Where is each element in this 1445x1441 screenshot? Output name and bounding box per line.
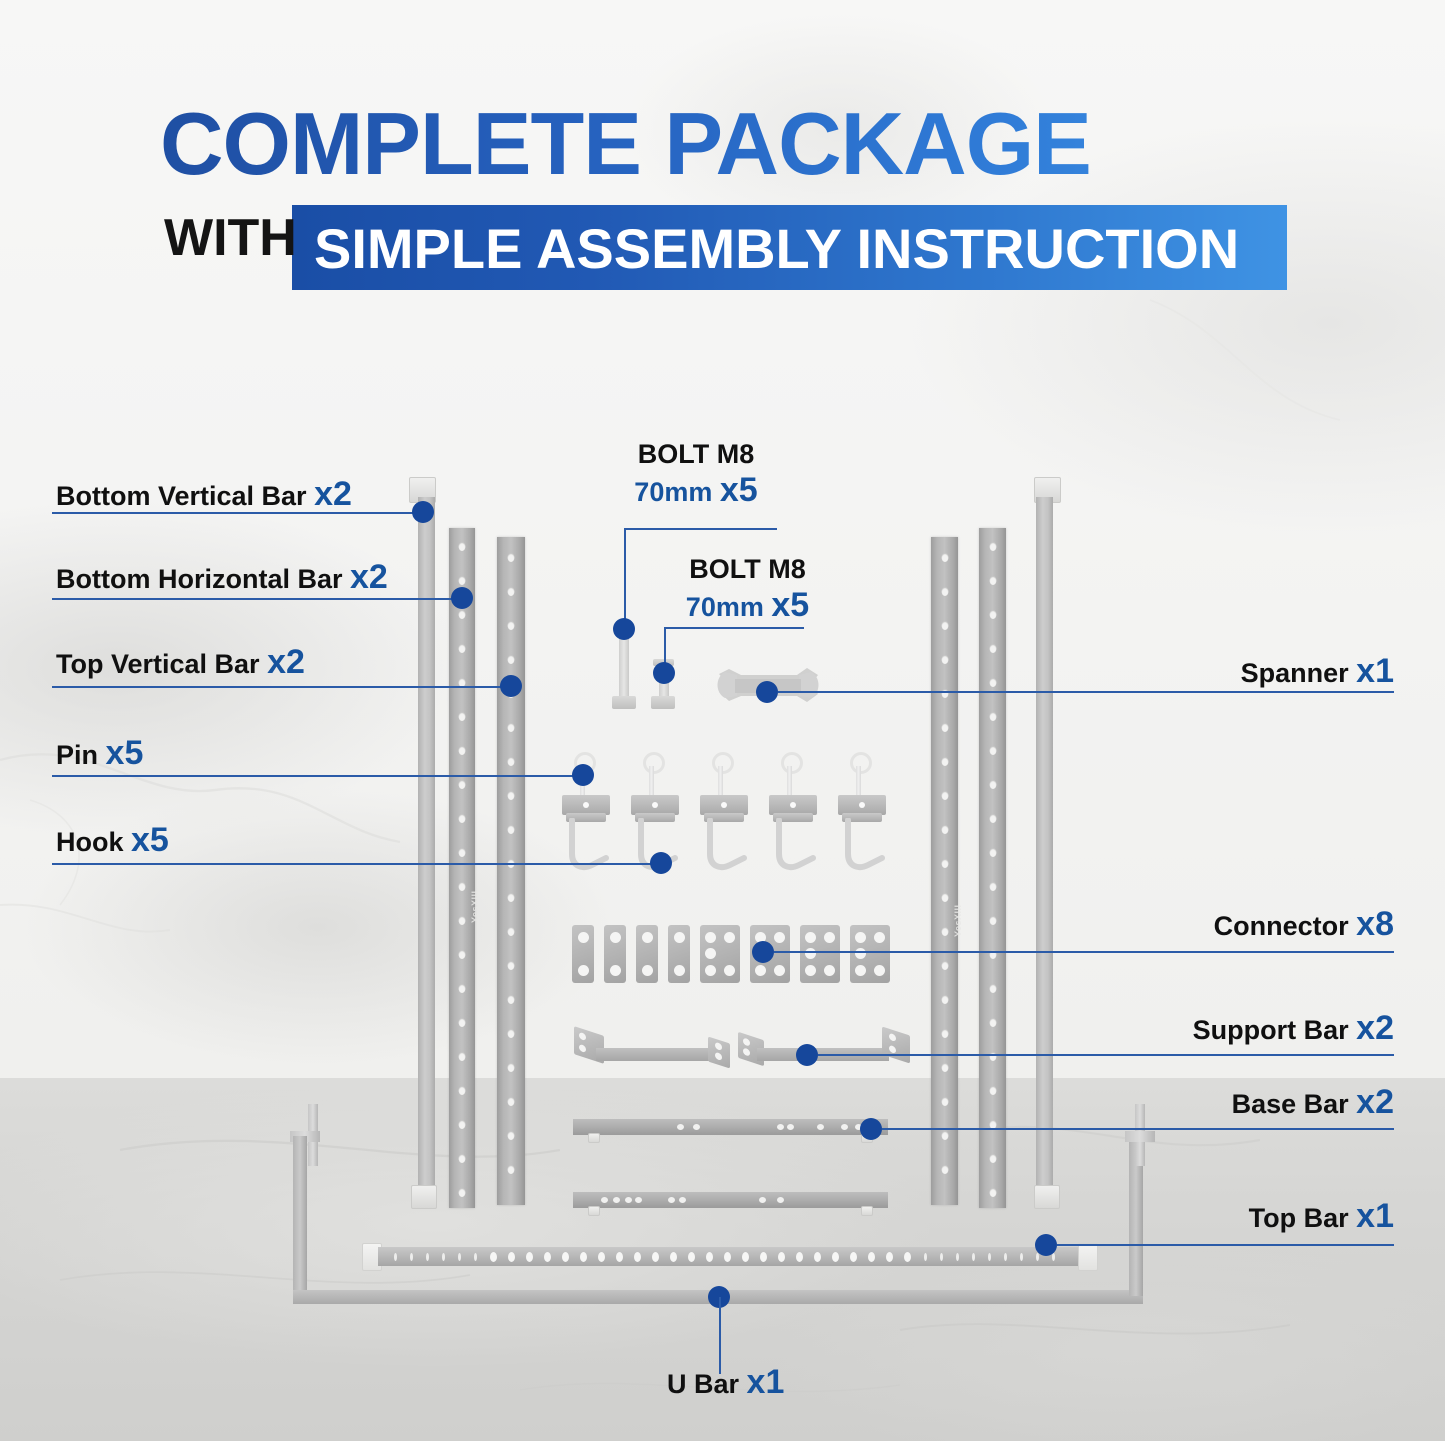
- callout-base-bar: Base Bar x2: [1000, 1086, 1394, 1120]
- callout-label-hook: Hook: [56, 827, 124, 857]
- connector-8: [850, 925, 890, 983]
- callout-spanner: Spanner x1: [1000, 655, 1394, 689]
- left-top-vertical-bar: [497, 537, 525, 1205]
- callout-pin: Pin x5: [56, 737, 143, 771]
- leader-line-bottom-vertical-bar: [52, 512, 422, 514]
- leader-dot-bolt-short: [653, 662, 675, 684]
- leader-line-u-bar: [719, 1297, 721, 1374]
- callout-label-spanner: Spanner: [1241, 658, 1349, 688]
- callout-hook: Hook x5: [56, 824, 169, 858]
- leader-line-connector: [774, 951, 1394, 953]
- base-bar-1: [573, 1119, 888, 1135]
- callout-size-bolt-long: 70mm: [634, 477, 712, 507]
- callout-qty-hook: x5: [131, 821, 169, 859]
- leader-line-top-vertical-bar: [52, 686, 512, 688]
- callout-label-bolt-short: BOLT M8: [689, 554, 806, 584]
- callout-label-support-bar: Support Bar: [1193, 1015, 1349, 1045]
- connector-3: [636, 925, 658, 983]
- connector-7: [800, 925, 840, 983]
- brand-watermark-right: YesXIII: [953, 904, 963, 937]
- callout-bolt-m8-short: BOLT M8 70mm x5: [640, 553, 855, 623]
- subtitle-with-label: WITH: [164, 208, 297, 268]
- brand-watermark: YesXIII: [470, 890, 480, 923]
- callout-qty-top-vertical-bar: x2: [267, 643, 305, 681]
- connector-1: [572, 925, 594, 983]
- callout-label-bottom-vertical-bar: Bottom Vertical Bar: [56, 481, 307, 511]
- leader-dot-base-bar: [860, 1118, 882, 1140]
- callout-bolt-m8-long: BOLT M8 70mm x5: [596, 438, 796, 508]
- callout-label-bottom-horizontal-bar: Bottom Horizontal Bar: [56, 564, 343, 594]
- callout-label-connector: Connector: [1214, 911, 1349, 941]
- connector-5: [700, 925, 740, 983]
- leader-dot-connector: [752, 941, 774, 963]
- connector-4: [668, 925, 690, 983]
- callout-connector: Connector x8: [1000, 908, 1394, 942]
- leader-line-bolt-short-h: [664, 627, 804, 629]
- callout-label-top-vertical-bar: Top Vertical Bar: [56, 649, 260, 679]
- page-title: COMPLETE PACKAGE: [160, 96, 1320, 192]
- leader-line-bolt-long-v: [624, 528, 626, 628]
- base-bar-2: [573, 1192, 888, 1208]
- subtitle-banner-text: SIMPLE ASSEMBLY INSTRUCTION: [314, 217, 1294, 281]
- callout-top-bar: Top Bar x1: [1000, 1200, 1394, 1234]
- callout-qty-top-bar: x1: [1356, 1197, 1394, 1235]
- callout-u-bar: U Bar x1: [667, 1366, 784, 1400]
- callout-bottom-vertical-bar: Bottom Vertical Bar x2: [56, 478, 352, 512]
- callout-label-top-bar: Top Bar: [1249, 1203, 1349, 1233]
- leader-line-pin: [52, 775, 577, 777]
- callout-label-base-bar: Base Bar: [1232, 1089, 1349, 1119]
- callout-qty-connector: x8: [1356, 905, 1394, 943]
- callout-bottom-horizontal-bar: Bottom Horizontal Bar x2: [56, 561, 388, 595]
- leader-dot-bottom-horizontal-bar: [451, 587, 473, 609]
- leader-dot-spanner: [756, 681, 778, 703]
- callout-label-bolt-long: BOLT M8: [638, 439, 755, 469]
- infographic-canvas: COMPLETE PACKAGE WITH SIMPLE ASSEMBLY IN…: [0, 0, 1445, 1441]
- callout-qty-bottom-vertical-bar: x2: [314, 475, 352, 513]
- leader-line-hook: [52, 863, 652, 865]
- callout-label-pin: Pin: [56, 740, 98, 770]
- leader-line-spanner: [778, 691, 1394, 693]
- callout-qty-base-bar: x2: [1356, 1083, 1394, 1121]
- leader-line-bolt-long-h: [624, 528, 777, 530]
- callout-size-bolt-short: 70mm: [686, 592, 764, 622]
- leader-dot-top-bar: [1035, 1234, 1057, 1256]
- callout-qty-bolt-short: x5: [771, 586, 809, 624]
- callout-qty-bottom-horizontal-bar: x2: [350, 558, 388, 596]
- left-bottom-horizontal-bar: YesXIII: [449, 528, 475, 1208]
- leader-dot-bolt-long: [613, 618, 635, 640]
- callout-qty-u-bar: x1: [747, 1363, 785, 1401]
- leader-dot-top-vertical-bar: [500, 675, 522, 697]
- leader-line-bottom-horizontal-bar: [52, 598, 462, 600]
- callout-label-u-bar: U Bar: [667, 1369, 739, 1399]
- callout-qty-spanner: x1: [1356, 652, 1394, 690]
- leader-dot-pin: [572, 764, 594, 786]
- callout-qty-pin: x5: [106, 734, 144, 772]
- connector-2: [604, 925, 626, 983]
- callout-qty-bolt-long: x5: [720, 471, 758, 509]
- leader-dot-hook: [650, 852, 672, 874]
- callout-qty-support-bar: x2: [1356, 1009, 1394, 1047]
- leader-line-base-bar: [882, 1128, 1394, 1130]
- leader-dot-support-bar: [796, 1044, 818, 1066]
- leader-dot-bottom-vertical-bar: [412, 501, 434, 523]
- callout-top-vertical-bar: Top Vertical Bar x2: [56, 646, 305, 680]
- leader-line-top-bar: [1057, 1244, 1394, 1246]
- leader-line-support-bar: [818, 1054, 1394, 1056]
- callout-support-bar: Support Bar x2: [1000, 1012, 1394, 1046]
- right-bottom-horizontal-bar: YesXIII: [931, 537, 958, 1205]
